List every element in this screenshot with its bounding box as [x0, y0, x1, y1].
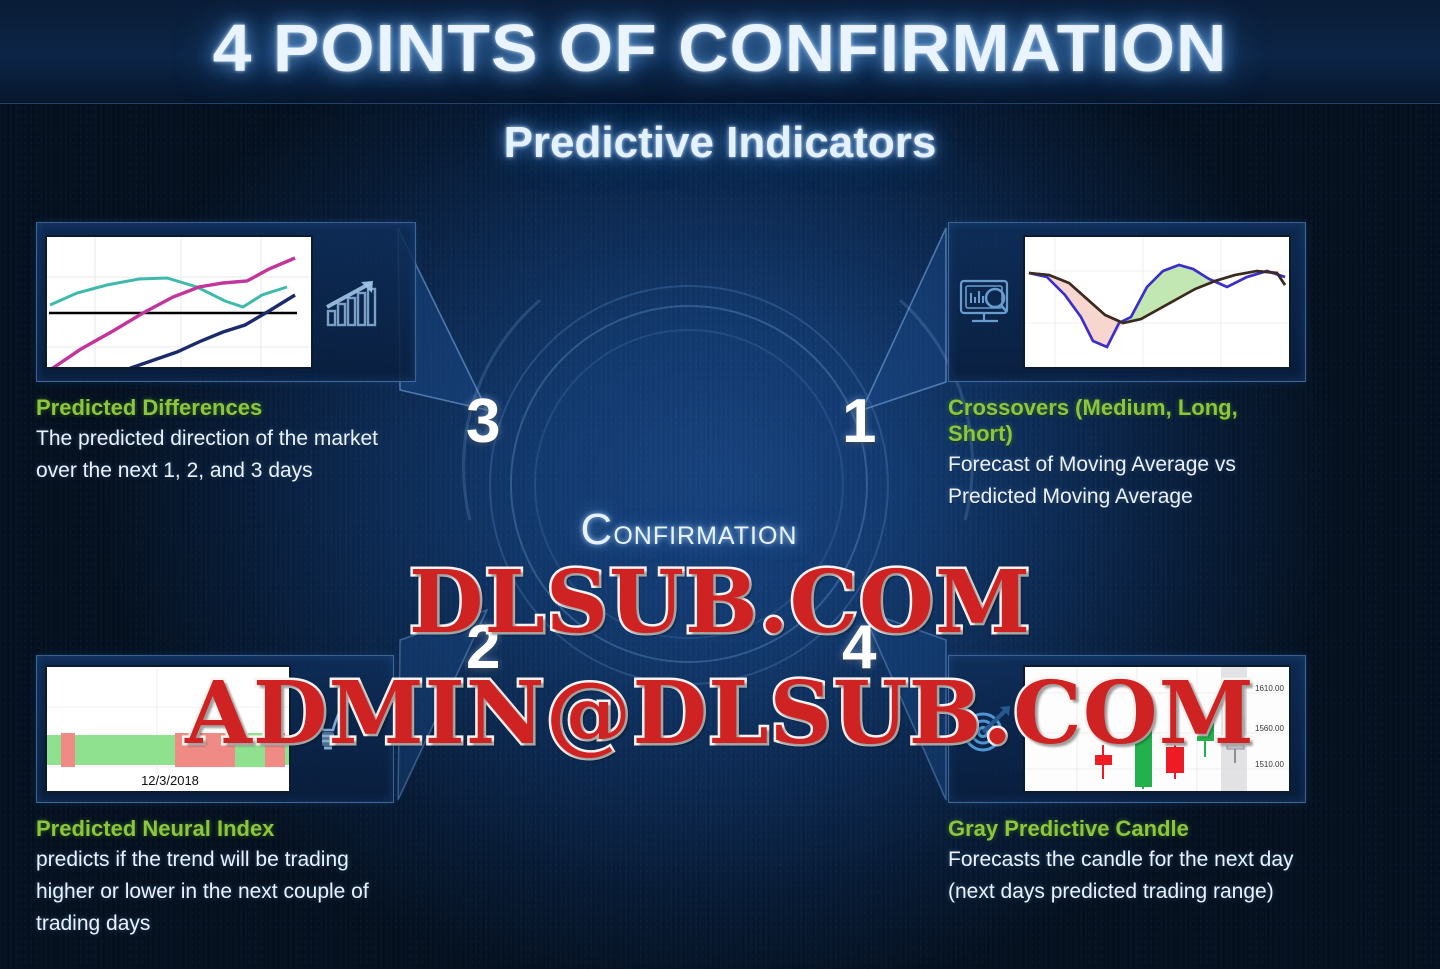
watermark-email: ADMIN@DLSUB.COM [0, 663, 1440, 764]
monitor-analytics-icon [957, 273, 1015, 331]
watermark-site-text: DLSUB.COM [409, 552, 1031, 653]
thumbnail-multi-line-chart [45, 235, 313, 369]
card-title: Crossovers (Medium, Long, Short) [948, 395, 1306, 447]
card-title: Predicted Differences [36, 395, 416, 421]
watermark-email-text: ADMIN@DLSUB.COM [185, 663, 1255, 764]
card-crossovers[interactable]: Crossovers (Medium, Long, Short) Forecas… [948, 222, 1306, 513]
page-title: 4 POINTS OF CONFIRMATION [0, 10, 1440, 87]
confirmation-label: Confirmation [489, 505, 889, 555]
quadrant-number-3: 3 [466, 386, 500, 457]
card-predicted-differences[interactable]: Predicted Differences The predicted dire… [36, 222, 416, 487]
card-title: Predicted Neural Index [36, 816, 394, 842]
thumbnail-crossover-chart [1023, 235, 1291, 369]
card-description: Forecast of Moving Average vs Predicted … [948, 449, 1306, 513]
thumbnail-frame [36, 222, 416, 382]
card-description: Forecasts the candle for the next day (n… [948, 844, 1306, 908]
card-description: predicts if the trend will be trading hi… [36, 844, 394, 940]
card-description: The predicted direction of the market ov… [36, 423, 416, 487]
bar-chart-growth-icon [321, 273, 379, 331]
page-subtitle: Predictive Indicators [0, 118, 1440, 168]
thumbnail-frame [948, 222, 1306, 382]
quadrant-number-1: 1 [842, 386, 876, 457]
card-title: Gray Predictive Candle [948, 816, 1306, 842]
watermark-site: DLSUB.COM [0, 552, 1440, 653]
thumbnail-date-label: 12/3/2018 [141, 773, 199, 788]
